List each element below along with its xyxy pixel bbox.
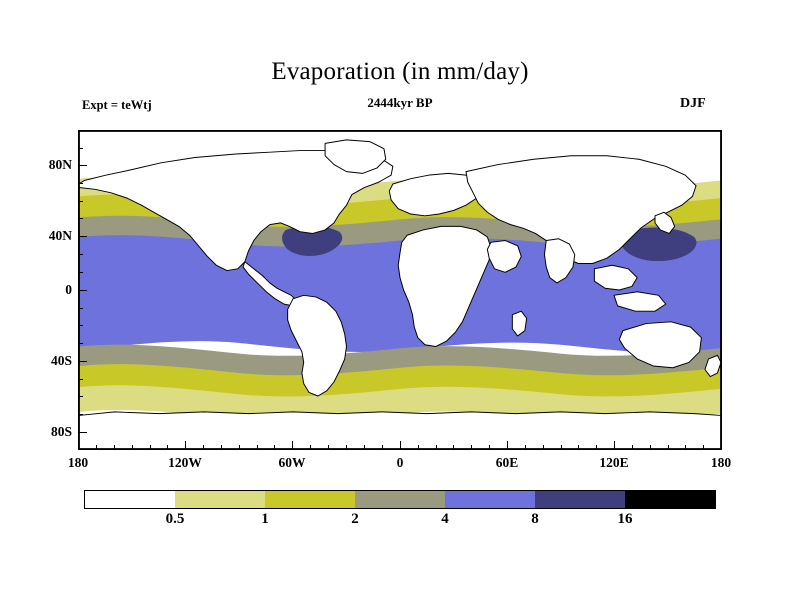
y-axis-label-80s: 80S (51, 424, 72, 440)
y-tick-major (78, 236, 87, 237)
y-tick-minor (78, 254, 83, 255)
colorbar-tick-4: 4 (420, 511, 470, 528)
x-tick-minor (471, 445, 472, 450)
x-tick-minor (632, 445, 633, 450)
y-axis-label-80n: 80N (49, 157, 72, 173)
x-tick-minor (578, 445, 579, 450)
x-tick-minor (489, 445, 490, 450)
x-tick-minor (543, 445, 544, 450)
x-tick-minor (150, 445, 151, 450)
colorbar-tick-2: 2 (330, 511, 380, 528)
y-axis-label-0: 0 (65, 282, 72, 298)
y-tick-minor (78, 148, 83, 149)
x-tick-minor (382, 445, 383, 450)
y-tick-major (78, 290, 87, 291)
x-tick-major (292, 441, 293, 450)
x-tick-minor (561, 445, 562, 450)
colorbar-swatch-4 (445, 491, 535, 508)
map-plot-area (78, 130, 722, 450)
x-tick-minor (650, 445, 651, 450)
page-title: Evaporation (in mm/day) (0, 58, 800, 86)
x-tick-minor (418, 445, 419, 450)
y-tick-minor (78, 325, 83, 326)
y-tick-minor (78, 218, 83, 219)
x-axis-label-120e: 120E (589, 455, 639, 471)
colorbar-swatch-6 (625, 491, 715, 508)
y-tick-minor (78, 414, 83, 415)
y-tick-major (78, 361, 87, 362)
x-tick-minor (703, 445, 704, 450)
x-tick-minor (328, 445, 329, 450)
x-tick-minor (364, 445, 365, 450)
y-tick-minor (78, 396, 83, 397)
y-axis-label-40s: 40S (51, 353, 72, 369)
colorbar-swatch-2 (265, 491, 355, 508)
y-tick-minor (78, 201, 83, 202)
x-axis-label-120w: 120W (160, 455, 210, 471)
x-tick-minor (221, 445, 222, 450)
x-axis-label-60e: 60E (482, 455, 532, 471)
x-tick-minor (453, 445, 454, 450)
y-tick-minor (78, 379, 83, 380)
colorbar (84, 490, 716, 509)
figure-canvas: Evaporation (in mm/day) 2444kyr BP Expt … (0, 0, 800, 600)
x-tick-minor (257, 445, 258, 450)
x-tick-major (185, 441, 186, 450)
colorbar-tick-1: 1 (240, 511, 290, 528)
x-tick-minor (274, 445, 275, 450)
x-tick-minor (668, 445, 669, 450)
map-field (79, 131, 721, 449)
x-tick-minor (310, 445, 311, 450)
x-tick-minor (203, 445, 204, 450)
colorbar-tick-8: 8 (510, 511, 560, 528)
x-tick-minor (167, 445, 168, 450)
y-tick-minor (78, 272, 83, 273)
colorbar-swatch-0 (85, 491, 175, 508)
season-label: DJF (680, 96, 706, 112)
x-tick-minor (596, 445, 597, 450)
x-tick-major (78, 441, 79, 450)
x-tick-minor (239, 445, 240, 450)
x-tick-minor (346, 445, 347, 450)
x-tick-major (400, 441, 401, 450)
x-tick-minor (685, 445, 686, 450)
x-tick-major (721, 441, 722, 450)
y-tick-minor (78, 343, 83, 344)
colorbar-swatch-1 (175, 491, 265, 508)
colorbar-swatch-5 (535, 491, 625, 508)
y-tick-major (78, 165, 87, 166)
y-axis-label-40n: 40N (49, 228, 72, 244)
colorbar-tick-0p5: 0.5 (150, 511, 200, 528)
y-tick-minor (78, 308, 83, 309)
x-tick-minor (96, 445, 97, 450)
x-tick-minor (114, 445, 115, 450)
x-tick-minor (132, 445, 133, 450)
experiment-label: Expt = teWtj (82, 98, 152, 113)
x-axis-label-0: 0 (375, 455, 425, 471)
x-tick-major (614, 441, 615, 450)
colorbar-swatch-3 (355, 491, 445, 508)
x-axis-label-180e: 180 (696, 455, 746, 471)
x-axis-label-60w: 60W (267, 455, 317, 471)
y-tick-major (78, 432, 87, 433)
x-tick-major (507, 441, 508, 450)
x-tick-minor (525, 445, 526, 450)
x-axis-label-180w: 180 (53, 455, 103, 471)
y-tick-minor (78, 183, 83, 184)
colorbar-tick-16: 16 (600, 511, 650, 528)
x-tick-minor (436, 445, 437, 450)
